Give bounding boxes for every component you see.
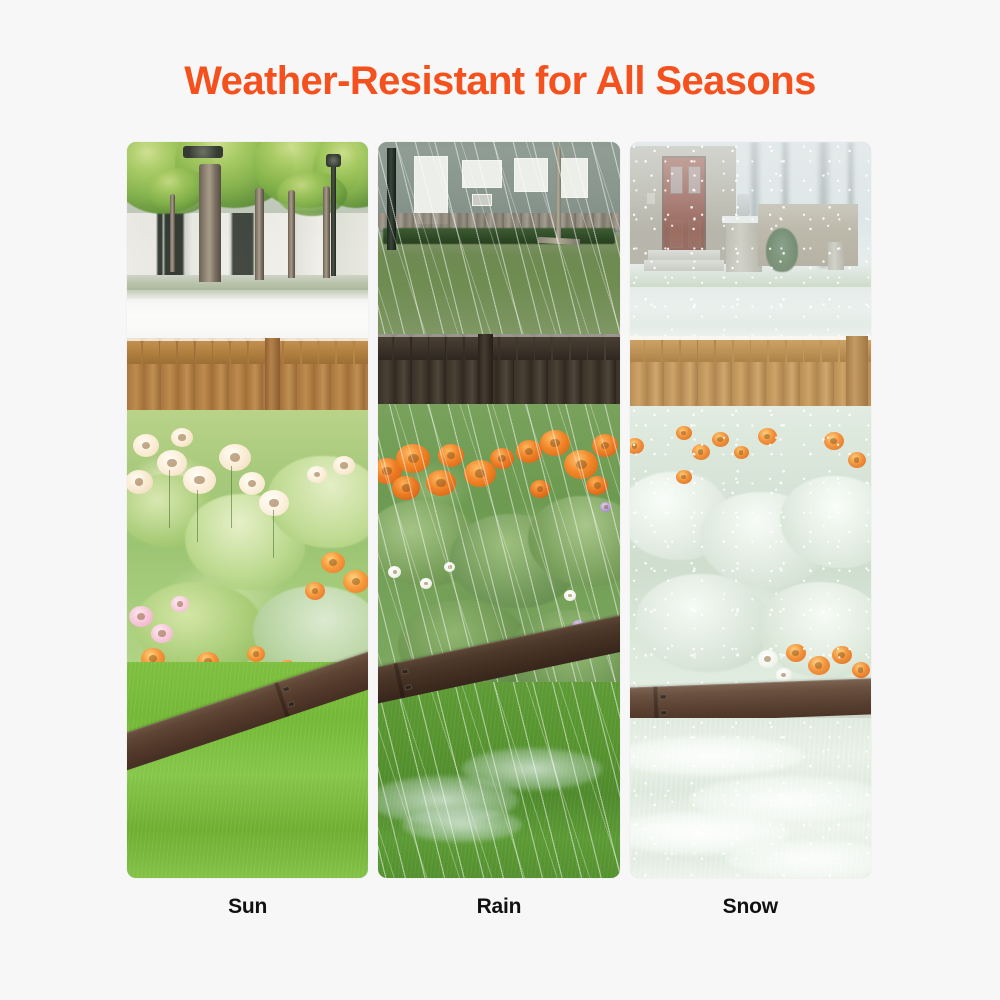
fence-picket [518,334,534,360]
house-window [514,158,548,192]
fence-snow-cap [630,336,871,340]
fence-picket-row [378,334,619,360]
edging-bolt [659,694,666,699]
lawn-rain [378,682,619,878]
marigold-bloom [676,426,692,440]
zinnia-bloom [247,646,265,662]
edging-seam [394,662,405,698]
fence-picket [231,338,247,364]
marigold-bloom [852,662,870,678]
snow-house-scene [630,142,871,338]
lamp-pillar [726,220,762,272]
fence-picket [196,338,212,364]
zinnia-bloom [343,570,368,593]
fence-picket [319,338,335,364]
marigold-bloom [848,452,866,468]
snowy-ground [630,287,871,338]
rose-bloom [219,444,251,471]
rose-bloom [307,466,327,483]
tree-trunk [255,188,264,280]
fence-picket [588,334,604,360]
marigold-bloom [758,428,777,445]
panel-labels: Sun Rain Snow [127,894,871,920]
rose-bloom [157,450,187,476]
white-bloom [758,650,778,668]
page-root: Weather-Resistant for All Seasons [0,0,1000,1000]
flower-bed-snow [630,406,871,702]
flower-stem [197,490,198,542]
fence-picket [553,334,569,360]
flower-stem [231,466,232,528]
fence-picket [302,338,318,364]
fence-picket [378,334,392,360]
rose-bloom [183,466,216,494]
door-lower-panel [670,220,683,248]
panel-snow[interactable] [630,142,871,878]
wall-ac-unit [472,194,492,206]
rain-house-scene [378,142,619,338]
edging-bolt [660,710,667,715]
edging-bolt [287,701,295,708]
pink-bloom [171,596,189,612]
fence-top-highlight [378,334,619,337]
marigold-bloom [676,470,692,484]
evergreen-shrub [766,228,798,272]
panel-sun[interactable] [127,142,368,878]
edging-bolt [282,686,290,693]
label-sun: Sun [127,894,368,920]
lawn-snow [630,718,871,878]
rose-bloom [171,428,193,447]
house-number-plate [646,192,656,205]
fence-picket [160,338,176,364]
rose-bloom [133,434,159,457]
zinnia-bloom [321,552,345,573]
marigold-bloom [712,432,729,447]
panel-rain[interactable] [378,142,619,878]
fence-picket [143,338,159,364]
tree-trunk [288,190,295,278]
puddle [462,748,602,790]
fence-picket [571,334,587,360]
page-title: Weather-Resistant for All Seasons [0,57,1000,105]
lamp-post-icon [387,148,396,250]
fence-picket [447,334,463,360]
fence-picket [535,334,551,360]
door-glass-panel [670,166,683,194]
edging-bolt [401,668,409,674]
fence-picket [178,338,194,364]
snow-drift [726,840,871,878]
marigold-bloom [734,446,749,459]
house-window [462,160,502,188]
lamp-head-icon [326,154,341,167]
white-bloom [776,668,792,682]
marigold-bloom [786,644,806,662]
house-window [558,158,588,198]
tree-trunk [199,164,221,282]
fence-picket [429,334,445,360]
flower-stem [169,470,170,528]
fence-picket [355,338,369,364]
fence-picket-row [127,338,368,364]
marigold-bloom [808,656,830,675]
fence-picket [412,334,428,360]
zinnia-bloom [305,582,325,600]
rose-bloom [333,456,355,475]
lamp-post-icon [331,162,336,276]
snow-drift [630,736,804,776]
pink-bloom [151,624,173,643]
marigold-bloom [832,646,852,664]
fence-picket [394,334,410,360]
stone-post [828,242,844,270]
lamp-head-icon [737,194,750,216]
umbrella-stand [556,146,561,242]
label-snow: Snow [630,894,871,920]
fence-picket [606,334,620,360]
label-rain: Rain [378,894,619,920]
door-glass-panel [688,166,701,194]
comparison-panel-strip [127,142,871,878]
fence-picket [127,338,141,364]
fence-picket [500,334,516,360]
sun-overexposed-transition [127,290,368,342]
door-lower-panel [688,220,701,248]
fence-picket [249,338,265,364]
front-step [644,260,724,271]
marigold-bloom [692,444,710,460]
fence-picket [337,338,353,364]
fence-picket [284,338,300,364]
lamp-head-icon [183,146,223,158]
fence-picket [213,338,229,364]
rose-bloom [239,472,265,495]
fence-top-highlight [127,338,368,341]
pink-bloom [129,606,153,627]
edging-bolt [405,684,413,690]
marigold-bloom [824,432,844,450]
tree-trunk [170,194,175,272]
flower-stem [273,510,274,558]
puddle [402,808,522,842]
tree-trunk [323,186,330,278]
front-door [662,156,706,252]
